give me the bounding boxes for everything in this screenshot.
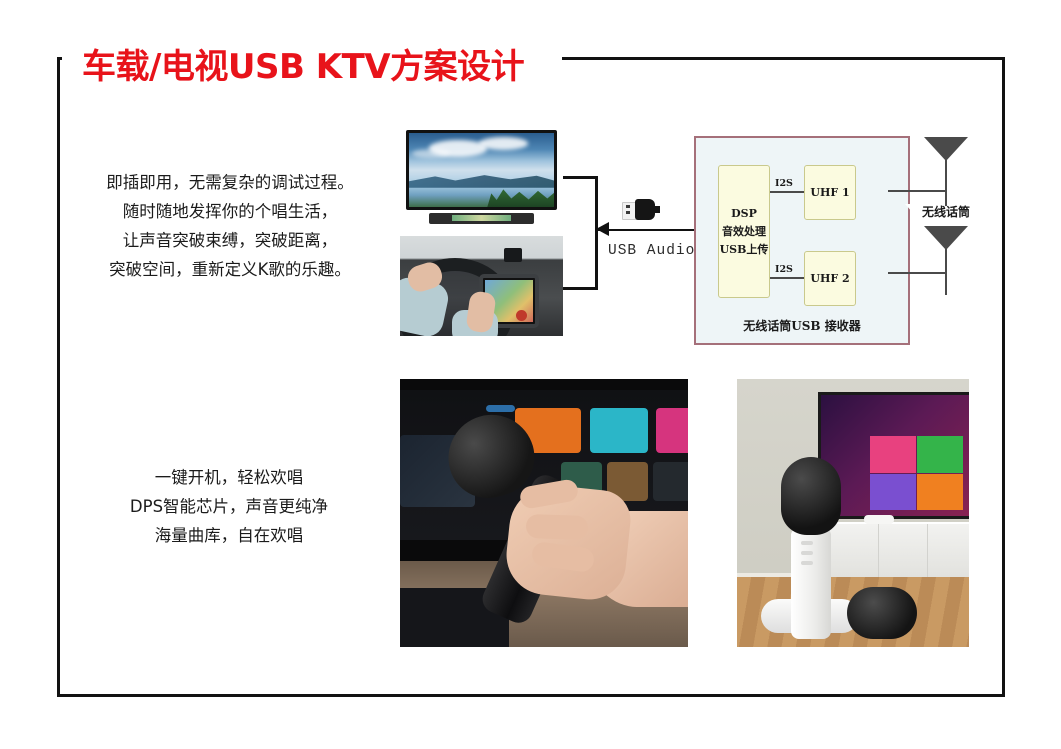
- mic-button: [801, 541, 813, 545]
- tv-cabinet: [829, 522, 969, 578]
- feature-paragraph-bottom: 一键开机，轻松欢唱 DPS智能芯片，声音更纯净 海量曲库，自在欢唱: [84, 463, 374, 550]
- microphone-1-body: [791, 529, 831, 639]
- tv-app-tile: [917, 474, 963, 510]
- cabinet-seam: [878, 524, 879, 578]
- dsp-label-2: 音效处理: [722, 223, 766, 241]
- cloud-shape: [412, 149, 450, 158]
- bracket-bottom-stub: [563, 287, 597, 290]
- mic-button: [801, 561, 813, 565]
- media-tile: [590, 408, 648, 453]
- media-tile: [653, 462, 688, 501]
- two-white-microphones-living-room-tv-photo: [737, 379, 969, 647]
- antenna-stem: [945, 160, 947, 206]
- dsp-block: DSP 音效处理 USB上传: [718, 165, 770, 298]
- usb-receiver-block-diagram: DSP 音效处理 USB上传 UHF 1 UHF 2 I2S I2S 无线话筒U…: [694, 136, 910, 345]
- antenna-wire-2: [888, 272, 945, 274]
- tv-app-tile: [917, 436, 963, 472]
- i2s-line-2: [770, 277, 804, 279]
- page-title: 车载/电视USB KTV方案设计: [82, 39, 524, 88]
- feature-paragraph-top: 即插即用，无需复杂的调试过程。 随时随地发挥你的个唱生活， 让声音突破束缚，突破…: [74, 168, 386, 284]
- antenna-icon-1: [924, 137, 968, 161]
- hand-holding-microphone-in-car-photo: [400, 379, 688, 647]
- tv-stand: [429, 213, 533, 224]
- copy-bottom-line-3: 海量曲库，自在欢唱: [84, 521, 374, 550]
- copy-top-line-1: 即插即用，无需复杂的调试过程。: [74, 168, 386, 197]
- phone-mount: [504, 248, 522, 262]
- usb-plug-cable: [654, 206, 660, 213]
- tv-bezel: [406, 130, 557, 210]
- cabinet-seam: [927, 524, 928, 578]
- usb-plug-pin: [626, 211, 630, 214]
- i2s-label-2: I2S: [775, 264, 793, 275]
- antenna-stem: [945, 249, 947, 295]
- receiver-caption: 无线话筒USB 接收器: [696, 317, 908, 334]
- usb-audio-label: USB Audio: [608, 243, 695, 259]
- record-dot-icon: [516, 310, 527, 321]
- uhf2-block: UHF 2: [804, 251, 856, 306]
- antenna-icon-2: [924, 226, 968, 250]
- i2s-label-1: I2S: [775, 178, 793, 189]
- copy-top-line-4: 突破空间，重新定义K歌的乐趣。: [74, 255, 386, 284]
- antenna-triangle-inner: [905, 115, 943, 136]
- cabinet-object: [864, 515, 894, 524]
- mic-button: [801, 551, 813, 555]
- tv-landscape-photo: [400, 124, 563, 228]
- uhf1-block: UHF 1: [804, 165, 856, 220]
- media-tile: [486, 405, 515, 413]
- dsp-label-1: DSP: [731, 205, 757, 223]
- microphone-1-foam-head: [781, 457, 841, 535]
- i2s-line-1: [770, 191, 804, 193]
- antenna-triangle: [924, 137, 968, 161]
- usb-audio-arrow-icon: [596, 222, 609, 236]
- tv-app-tile: [870, 474, 916, 510]
- mountain-shape: [409, 172, 554, 188]
- copy-bottom-line-2: DPS智能芯片，声音更纯净: [84, 492, 374, 521]
- antenna-triangle: [924, 226, 968, 250]
- tv-app-tile: [870, 436, 916, 472]
- usb-audio-wire: [598, 229, 696, 231]
- antenna-wire-1: [888, 190, 945, 192]
- usb-plug-icon: [622, 198, 658, 222]
- copy-bottom-line-1: 一键开机，轻松欢唱: [84, 463, 374, 492]
- copy-top-line-3: 让声音突破束缚，突破距离，: [74, 226, 386, 255]
- usb-plug-pin: [626, 205, 630, 208]
- finger: [526, 514, 589, 540]
- tv-screen: [409, 133, 554, 207]
- wireless-mic-label: 无线话筒: [922, 203, 970, 220]
- usb-plug-body: [635, 199, 655, 220]
- microphone-2-foam-head: [847, 587, 917, 639]
- bracket-top-stub: [563, 176, 597, 179]
- copy-top-line-2: 随时随地发挥你的个唱生活，: [74, 197, 386, 226]
- media-tile: [656, 408, 688, 453]
- dsp-label-3: USB上传: [720, 241, 769, 259]
- car-interior-touchscreen-photo: [400, 236, 563, 336]
- cloud-shape: [479, 137, 528, 150]
